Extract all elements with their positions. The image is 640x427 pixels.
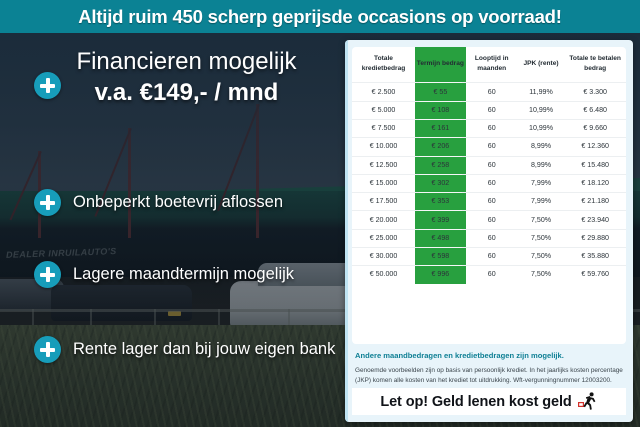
cell-jkp: 7,50% [518, 211, 565, 229]
column-header-looptijd: Looptijd in maanden [466, 47, 518, 83]
column-header-jkp: JPK (rente) [518, 47, 565, 83]
table-body: € 2.500 € 55 60 11,99% € 3.300 € 5.000 €… [352, 83, 626, 284]
cell-jkp: 11,99% [518, 83, 565, 101]
plus-icon [34, 189, 61, 216]
cell-totaal: € 12.360 [564, 138, 626, 156]
cell-looptijd: 60 [466, 138, 518, 156]
cell-jkp: 8,99% [518, 138, 565, 156]
cell-looptijd: 60 [466, 229, 518, 247]
finance-card: Totale kredietbedrag Termijn bedrag Loop… [345, 40, 633, 422]
credit-warning-text: Let op! Geld lenen kost geld [380, 394, 571, 410]
column-header-termijn: Termijn bedrag [415, 47, 466, 83]
cell-totaal: € 15.480 [564, 156, 626, 174]
card-left-edge [345, 40, 348, 422]
plus-icon [34, 261, 61, 288]
cell-krediet: € 7.500 [352, 120, 415, 138]
column-header-krediet: Totale kredietbedrag [352, 47, 415, 83]
promo-bullet-label: Lagere maandtermijn mogelijk [73, 265, 294, 284]
cell-krediet: € 15.000 [352, 174, 415, 192]
cell-krediet: € 20.000 [352, 211, 415, 229]
table-row: € 17.500 € 353 60 7,99% € 21.180 [352, 193, 626, 211]
table-row: € 15.000 € 302 60 7,99% € 18.120 [352, 174, 626, 192]
promo-column: Financieren mogelijk v.a. €149,- / mnd O… [0, 33, 345, 427]
promo-headline-line1: Financieren mogelijk [34, 49, 339, 76]
table-row: € 25.000 € 498 60 7,50% € 29.880 [352, 229, 626, 247]
cell-termijn: € 161 [415, 120, 466, 138]
cell-termijn: € 598 [415, 247, 466, 265]
table-row: € 12.500 € 258 60 8,99% € 15.480 [352, 156, 626, 174]
table-row: € 20.000 € 399 60 7,50% € 23.940 [352, 211, 626, 229]
cell-looptijd: 60 [466, 101, 518, 119]
promo-bullet-label: Onbeperkt boetevrij aflossen [73, 193, 283, 212]
cell-looptijd: 60 [466, 247, 518, 265]
cell-termijn: € 108 [415, 101, 466, 119]
table-header-row: Totale kredietbedrag Termijn bedrag Loop… [352, 47, 626, 83]
banner-headline: Altijd ruim 450 scherp geprijsde occasio… [78, 6, 562, 28]
cell-totaal: € 35.880 [564, 247, 626, 265]
promotional-banner-page: Altijd ruim 450 scherp geprijsde occasio… [0, 0, 640, 427]
cell-jkp: 10,99% [518, 101, 565, 119]
cell-krediet: € 50.000 [352, 266, 415, 284]
cell-krediet: € 10.000 [352, 138, 415, 156]
cell-krediet: € 12.500 [352, 156, 415, 174]
promo-bullet-1: Onbeperkt boetevrij aflossen [34, 189, 283, 216]
cell-jkp: 7,50% [518, 247, 565, 265]
rates-table-panel: Totale kredietbedrag Termijn bedrag Loop… [352, 47, 626, 344]
cell-jkp: 7,50% [518, 266, 565, 284]
plus-icon [34, 336, 61, 363]
promo-headline-line2: v.a. €149,- / mnd [34, 79, 339, 108]
cell-krediet: € 30.000 [352, 247, 415, 265]
running-man-icon [578, 392, 598, 411]
cell-looptijd: 60 [466, 174, 518, 192]
cell-totaal: € 21.180 [564, 193, 626, 211]
cell-looptijd: 60 [466, 266, 518, 284]
cell-jkp: 7,99% [518, 174, 565, 192]
cell-termijn: € 996 [415, 266, 466, 284]
promo-bullet-3: Rente lager dan bij jouw eigen bank [34, 336, 335, 363]
table-header: Totale kredietbedrag Termijn bedrag Loop… [352, 47, 626, 83]
cell-totaal: € 9.660 [564, 120, 626, 138]
cell-looptijd: 60 [466, 156, 518, 174]
cell-totaal: € 18.120 [564, 174, 626, 192]
table-row: € 10.000 € 206 60 8,99% € 12.360 [352, 138, 626, 156]
cell-termijn: € 399 [415, 211, 466, 229]
cell-totaal: € 29.880 [564, 229, 626, 247]
cell-looptijd: 60 [466, 83, 518, 101]
cell-termijn: € 258 [415, 156, 466, 174]
cell-totaal: € 3.300 [564, 83, 626, 101]
cell-jkp: 7,99% [518, 193, 565, 211]
cell-termijn: € 353 [415, 193, 466, 211]
table-row: € 30.000 € 598 60 7,50% € 35.880 [352, 247, 626, 265]
cell-krediet: € 17.500 [352, 193, 415, 211]
cell-termijn: € 302 [415, 174, 466, 192]
table-row: € 7.500 € 161 60 10,99% € 9.660 [352, 120, 626, 138]
column-header-totaal: Totale te betalen bedrag [564, 47, 626, 83]
promo-bullet-2: Lagere maandtermijn mogelijk [34, 261, 294, 288]
cell-krediet: € 25.000 [352, 229, 415, 247]
promo-headline: Financieren mogelijk v.a. €149,- / mnd [34, 49, 339, 108]
table-row: € 5.000 € 108 60 10,99% € 6.480 [352, 101, 626, 119]
cell-totaal: € 6.480 [564, 101, 626, 119]
top-banner: Altijd ruim 450 scherp geprijsde occasio… [0, 0, 640, 33]
table-row: € 50.000 € 996 60 7,50% € 59.760 [352, 266, 626, 284]
cell-termijn: € 206 [415, 138, 466, 156]
cell-looptijd: 60 [466, 120, 518, 138]
cell-termijn: € 498 [415, 229, 466, 247]
cell-jkp: 10,99% [518, 120, 565, 138]
cell-looptijd: 60 [466, 193, 518, 211]
cell-jkp: 7,50% [518, 229, 565, 247]
cell-termijn: € 55 [415, 83, 466, 101]
promo-bullet-label: Rente lager dan bij jouw eigen bank [73, 340, 335, 359]
credit-warning-bar: Let op! Geld lenen kost geld [352, 388, 626, 415]
cell-jkp: 8,99% [518, 156, 565, 174]
table-row: € 2.500 € 55 60 11,99% € 3.300 [352, 83, 626, 101]
cell-totaal: € 59.760 [564, 266, 626, 284]
cell-looptijd: 60 [466, 211, 518, 229]
disclaimer-title: Andere maandbedragen en kredietbedragen … [355, 351, 623, 361]
finance-rates-table: Totale kredietbedrag Termijn bedrag Loop… [352, 47, 626, 284]
cell-totaal: € 23.940 [564, 211, 626, 229]
cell-krediet: € 5.000 [352, 101, 415, 119]
cell-krediet: € 2.500 [352, 83, 415, 101]
